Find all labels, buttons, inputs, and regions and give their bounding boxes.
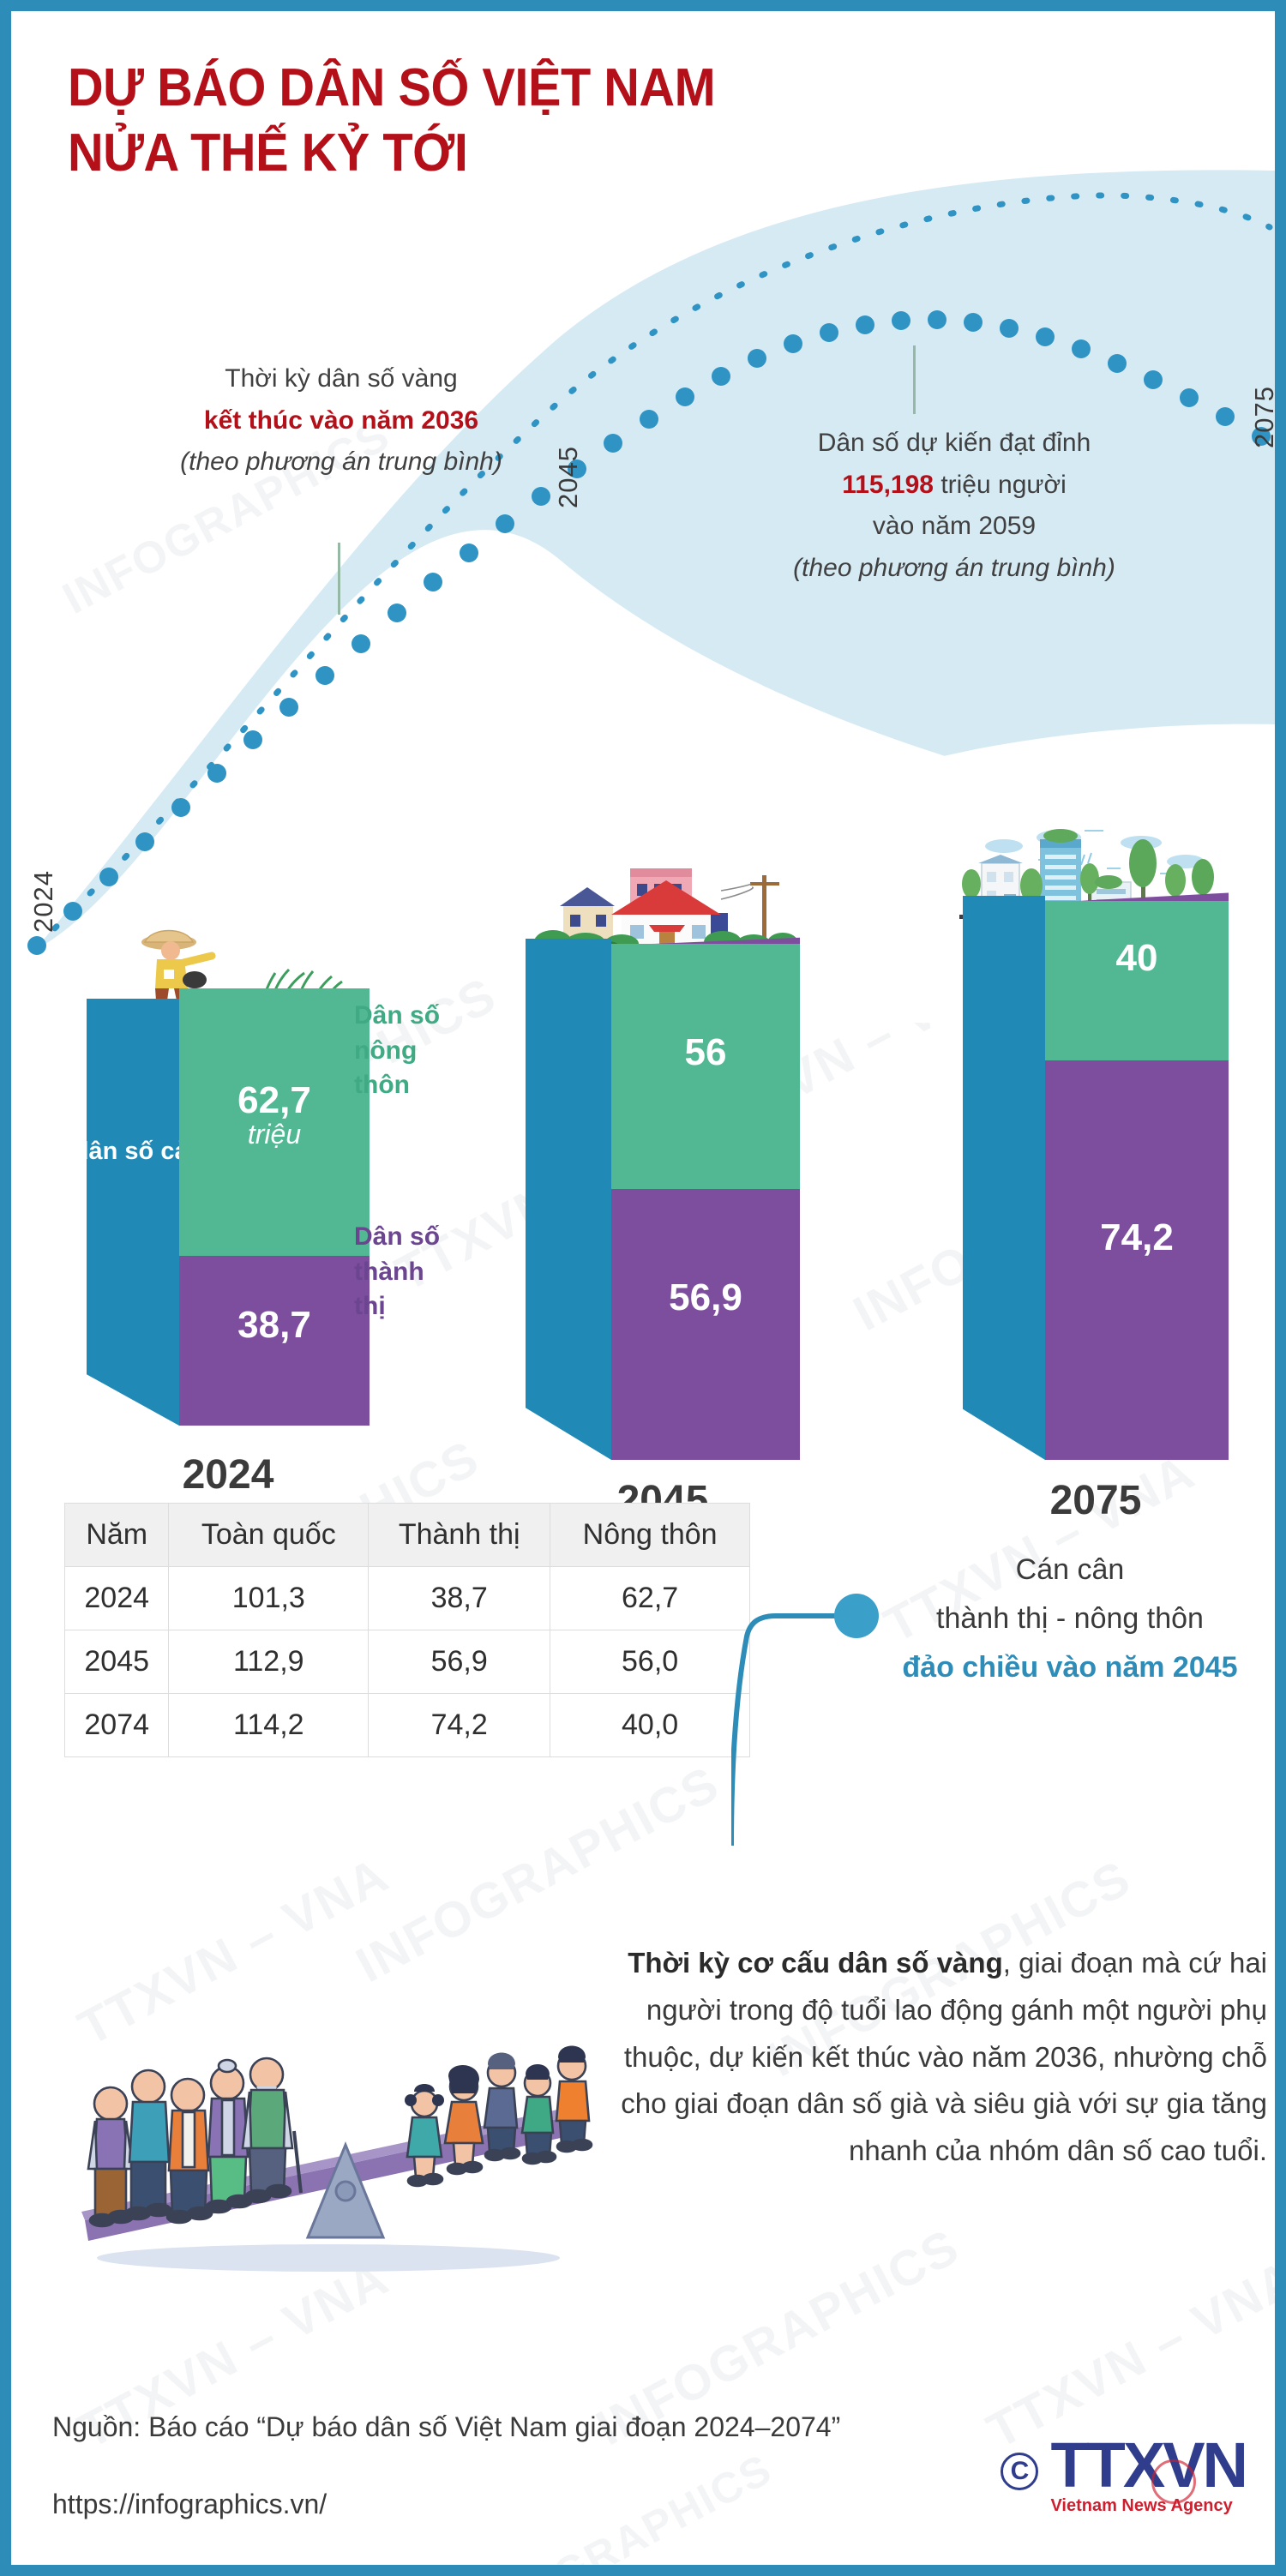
peak-value-unit: triệu người <box>934 471 1067 499</box>
annotation-peak-population: Dân số dự kiến đạt đỉnh 115,198 triệu ng… <box>688 423 1220 589</box>
bar-value-rural-2045: 56 <box>611 1033 800 1072</box>
legend-urban: Dân số thành thị <box>354 1220 457 1324</box>
bar-value-urban-2024: 38,7 <box>179 1306 370 1345</box>
bar-segment-urban-2075 <box>1045 1060 1229 1460</box>
bar-year-caption-2024: 2024 <box>87 1451 370 1498</box>
table-row: 2024 101,3 38,7 62,7 <box>65 1567 750 1630</box>
explanatory-paragraph: Thời kỳ cơ cấu dân số vàng, giai đoạn mà… <box>620 1940 1267 2175</box>
th-national: Toàn quốc <box>169 1504 369 1567</box>
cell-year: 2024 <box>65 1567 169 1630</box>
bar-value-rural-2075: 40 <box>1045 939 1229 978</box>
callout-line-2: thành thị - nông thôn <box>868 1594 1271 1643</box>
illustration-dependency-seesaw <box>37 1918 603 2287</box>
cell-rural: 62,7 <box>550 1567 750 1630</box>
th-year: Năm <box>65 1504 169 1567</box>
infographic-canvas: INFOGRAPHICS INFOGRAPHICS TTXVN – VNA TT… <box>11 11 1275 2565</box>
group-children <box>405 2046 592 2187</box>
cell-national: 114,2 <box>169 1694 369 1757</box>
infographic-page: INFOGRAPHICS INFOGRAPHICS TTXVN – VNA TT… <box>0 0 1286 2576</box>
annotation-line-1: Thời kỳ dân số vàng <box>80 358 603 400</box>
bar-3d-2075: 40 74,2 <box>963 834 1229 1460</box>
legend-rural-label: Dân số nông thôn <box>354 1001 440 1099</box>
rural-unit-2024: triệu <box>179 1120 370 1150</box>
annotation-highlight-2036: kết thúc vào năm 2036 <box>80 400 603 442</box>
callout-line-1: Cán cân <box>868 1546 1271 1594</box>
cell-urban: 56,9 <box>369 1630 550 1694</box>
legend-rural: Dân số nông thôn <box>354 999 457 1103</box>
copyright-icon: C <box>1001 2453 1038 2490</box>
cell-rural: 40,0 <box>550 1694 750 1757</box>
bar-year-caption-2075: 2075 <box>963 1477 1229 1524</box>
bar-value-urban-2045: 56,9 <box>611 1278 800 1318</box>
annotation-golden-population: Thời kỳ dân số vàng kết thúc vào năm 203… <box>80 358 603 483</box>
table-row: 2045 112,9 56,9 56,0 <box>65 1630 750 1694</box>
bar-segment-urban-2045 <box>611 1189 800 1460</box>
watermark: TTXVN – VNA <box>978 2249 1275 2460</box>
annotation-note-medium: (theo phương án trung bình) <box>80 441 603 483</box>
website-url[interactable]: https://infographics.vn/ <box>52 2489 327 2520</box>
annotation-tick-2036 <box>338 543 340 615</box>
bar-segment-rural-2075 <box>1045 901 1229 1060</box>
bar-top-cap-2075 <box>1045 882 1229 903</box>
peak-year-line: vào năm 2059 <box>688 506 1220 548</box>
source-note: Nguồn: Báo cáo “Dự báo dân số Việt Nam g… <box>52 2411 840 2443</box>
bar-side-face-total-2045 <box>526 939 611 1460</box>
rural-number-2024: 62,7 <box>237 1079 311 1121</box>
annotation-tick-2059 <box>913 345 916 414</box>
peak-value: 115,198 <box>842 471 934 499</box>
cell-year: 2045 <box>65 1630 169 1694</box>
th-rural: Nông thôn <box>550 1504 750 1567</box>
cell-urban: 74,2 <box>369 1694 550 1757</box>
logo-wordmark: TTXVN <box>1050 2437 1246 2495</box>
table-header-row: Năm Toàn quốc Thành thị Nông thôn <box>65 1504 750 1567</box>
peak-note-medium: (theo phương án trung bình) <box>688 548 1220 590</box>
bar-3d-2024: Tổng dân số cả nước 62,7 triệu 38,7 <box>87 946 370 1426</box>
peak-line-1: Dân số dự kiến đạt đỉnh <box>688 423 1220 465</box>
projection-table: Năm Toàn quốc Thành thị Nông thôn 2024 1… <box>64 1503 750 1757</box>
paragraph-lead-bold: Thời kỳ cơ cấu dân số vàng <box>628 1947 1003 1979</box>
legend-urban-label: Dân số thành thị <box>354 1222 440 1320</box>
table-row: 2074 114,2 74,2 40,0 <box>65 1694 750 1757</box>
bar-top-cap-2045 <box>611 927 800 946</box>
projection-table-wrapper: Năm Toàn quốc Thành thị Nông thôn 2024 1… <box>64 1503 750 1757</box>
ttxvn-logo: C TTXVN Vietnam News Agency <box>1001 2437 1246 2516</box>
bar-value-rural-2024: 62,7 triệu <box>179 1081 370 1150</box>
watermark: INFOGRAPHICS <box>448 2444 780 2565</box>
callout-urban-rural-balance: Cán cân thành thị - nông thôn đảo chiều … <box>868 1546 1271 1692</box>
connector-path <box>731 1616 846 1846</box>
cell-urban: 38,7 <box>369 1567 550 1630</box>
axis-year-end: 2075 <box>1249 386 1275 448</box>
bar-3d-2045: 56 56,9 <box>526 877 800 1460</box>
th-urban: Thành thị <box>369 1504 550 1567</box>
cell-national: 101,3 <box>169 1567 369 1630</box>
callout-line-3-highlight: đảo chiều vào năm 2045 <box>868 1643 1271 1692</box>
seesaw-shadow <box>97 2244 560 2272</box>
logo-text: TTXVN <box>1050 2429 1246 2501</box>
cell-rural: 56,0 <box>550 1630 750 1694</box>
paragraph-body: , giai đoạn mà cứ hai người trong độ tuổ… <box>621 1947 1267 2166</box>
axis-year-start: 2024 <box>28 870 59 933</box>
bar-side-face-total-2075 <box>963 896 1045 1460</box>
peak-value-line: 115,198 triệu người <box>688 465 1220 507</box>
cell-national: 112,9 <box>169 1630 369 1694</box>
cell-year: 2074 <box>65 1694 169 1757</box>
bar-side-face-total-2024 <box>87 999 179 1426</box>
bar-value-urban-2075: 74,2 <box>1045 1218 1229 1258</box>
